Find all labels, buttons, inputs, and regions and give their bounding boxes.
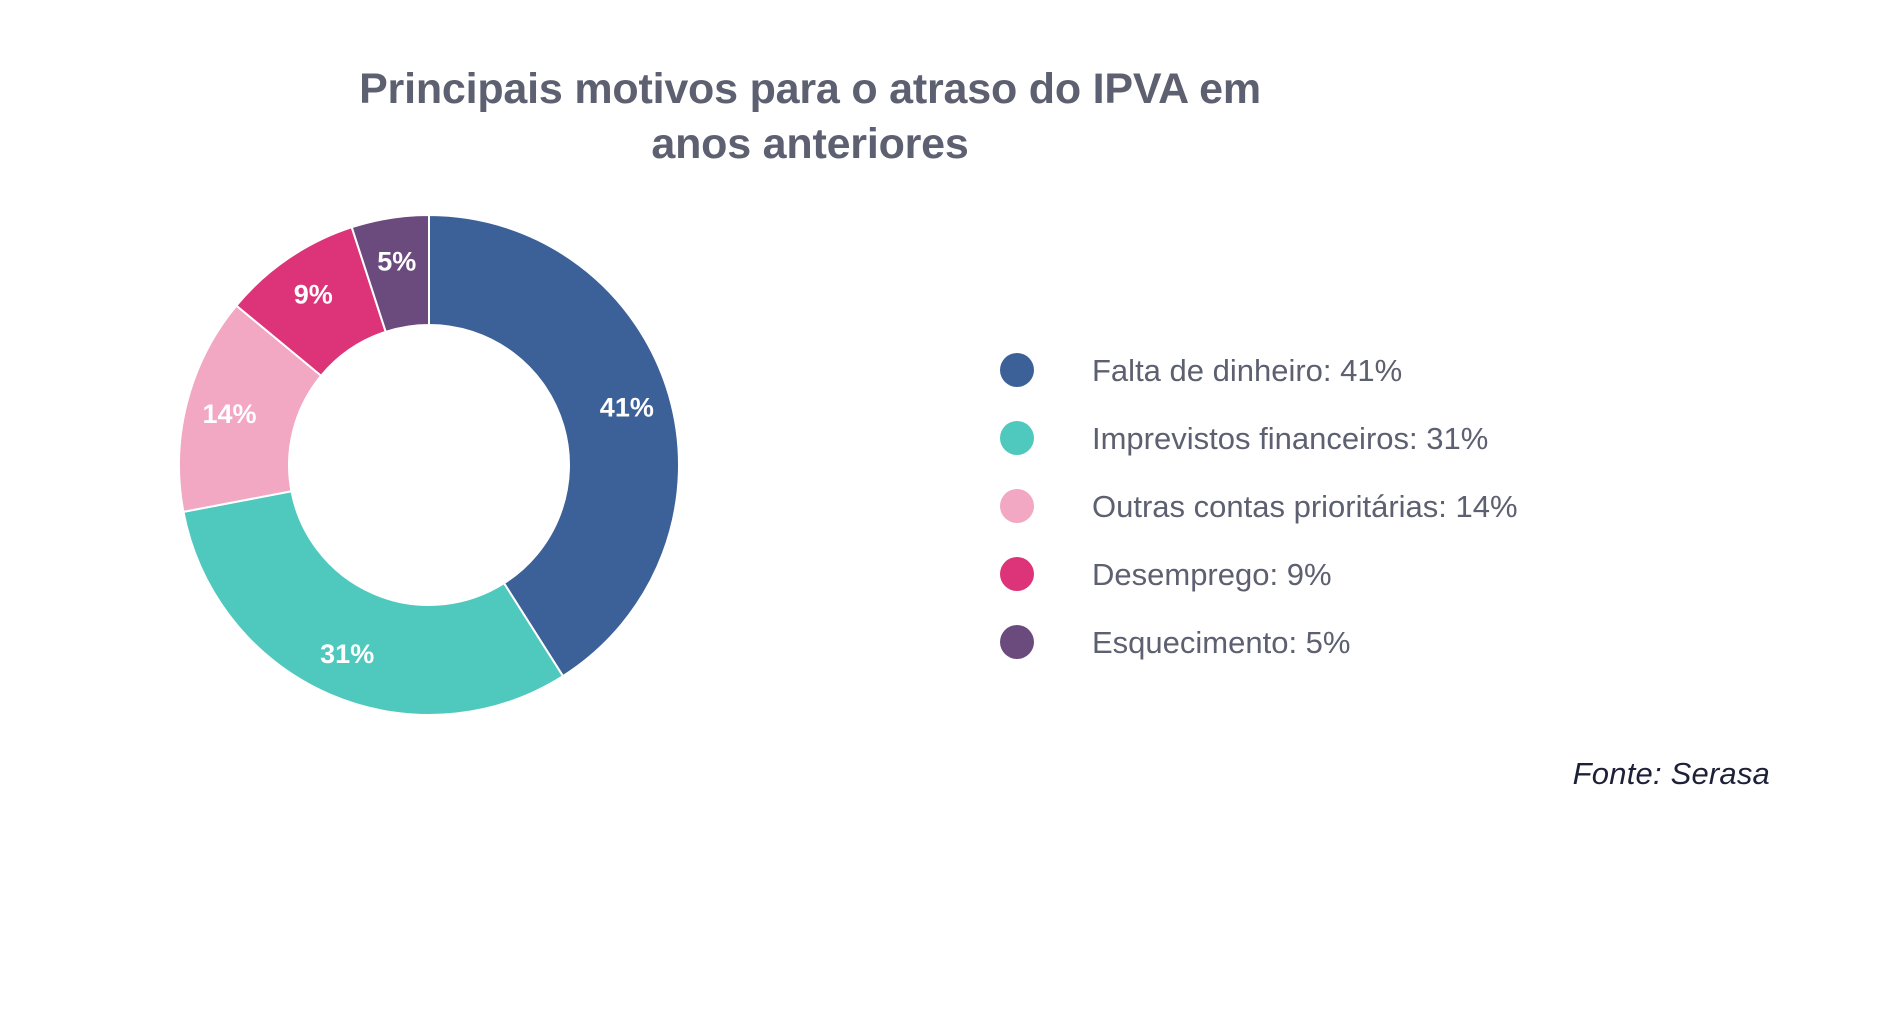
legend-item-label: Desemprego: 9% — [1092, 559, 1332, 590]
legend-swatch-outras-contas-prioritarias — [1000, 489, 1034, 523]
donut-slice-data-label: 5% — [377, 247, 416, 277]
legend-item-label: Outras contas prioritárias: 14% — [1092, 491, 1518, 522]
legend-item[interactable]: Outras contas prioritárias: 14% — [1000, 472, 1620, 540]
donut-chart-svg: 41%31%14%9%5% — [168, 204, 690, 726]
page-title-line-1: Principais motivos para o atraso do IPVA… — [0, 62, 1620, 117]
donut-slice[interactable] — [183, 491, 563, 715]
page-title-line-2: anos anteriores — [0, 117, 1620, 172]
legend-swatch-imprevistos-financeiros — [1000, 421, 1034, 455]
legend-item[interactable]: Imprevistos financeiros: 31% — [1000, 404, 1620, 472]
page-title: Principais motivos para o atraso do IPVA… — [0, 62, 1620, 172]
legend-item-label: Falta de dinheiro: 41% — [1092, 355, 1402, 386]
donut-chart-figure: Principais motivos para o atraso do IPVA… — [0, 0, 1882, 1024]
legend-item-label: Esquecimento: 5% — [1092, 627, 1350, 658]
source-attribution: Fonte: Serasa — [1573, 756, 1770, 792]
donut-slice-group — [179, 215, 679, 715]
donut-slice-data-label: 14% — [202, 399, 256, 429]
donut-slice-data-label: 9% — [294, 280, 333, 310]
donut-chart: 41%31%14%9%5% — [168, 204, 690, 726]
legend-item-label: Imprevistos financeiros: 31% — [1092, 423, 1488, 454]
legend-swatch-desemprego — [1000, 557, 1034, 591]
donut-slice-data-label: 31% — [320, 639, 374, 669]
chart-legend: Falta de dinheiro: 41%Imprevistos financ… — [1000, 336, 1620, 676]
legend-swatch-falta-de-dinheiro — [1000, 353, 1034, 387]
legend-item[interactable]: Desemprego: 9% — [1000, 540, 1620, 608]
legend-item[interactable]: Esquecimento: 5% — [1000, 608, 1620, 676]
donut-slice-data-label: 41% — [600, 393, 654, 423]
legend-swatch-esquecimento — [1000, 625, 1034, 659]
legend-item[interactable]: Falta de dinheiro: 41% — [1000, 336, 1620, 404]
